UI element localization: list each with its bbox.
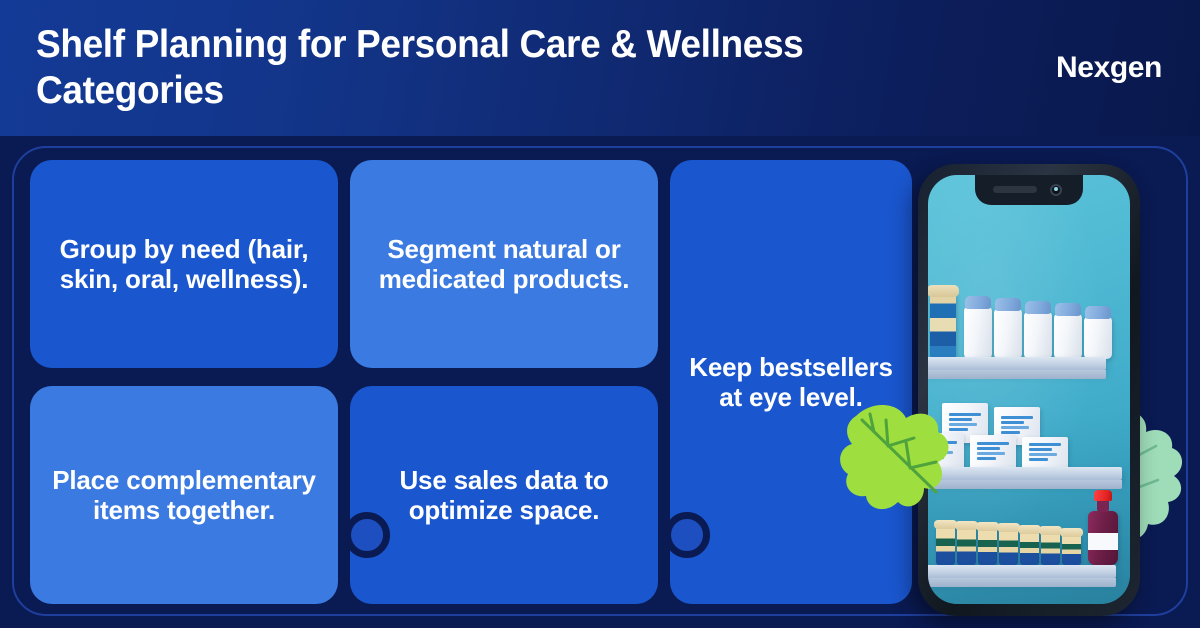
- card-group-by-need[interactable]: Group by need (hair, skin, oral, wellnes…: [30, 160, 338, 368]
- connector-node-right: [664, 512, 710, 558]
- infographic-canvas: Shelf Planning for Personal Care & Welln…: [0, 0, 1200, 628]
- card-segment-products[interactable]: Segment natural or medicated products.: [350, 160, 658, 368]
- page-title: Shelf Planning for Personal Care & Welln…: [36, 22, 815, 113]
- card-use-sales-data[interactable]: Use sales data to optimize space.: [350, 386, 658, 604]
- header-bar: Shelf Planning for Personal Care & Welln…: [0, 0, 1200, 136]
- brand-logo: Nexgen: [1056, 51, 1166, 85]
- card-place-complementary[interactable]: Place complementary items together.: [30, 386, 338, 604]
- card-grid: Group by need (hair, skin, oral, wellnes…: [30, 160, 1170, 604]
- connector-node-left: [344, 512, 390, 558]
